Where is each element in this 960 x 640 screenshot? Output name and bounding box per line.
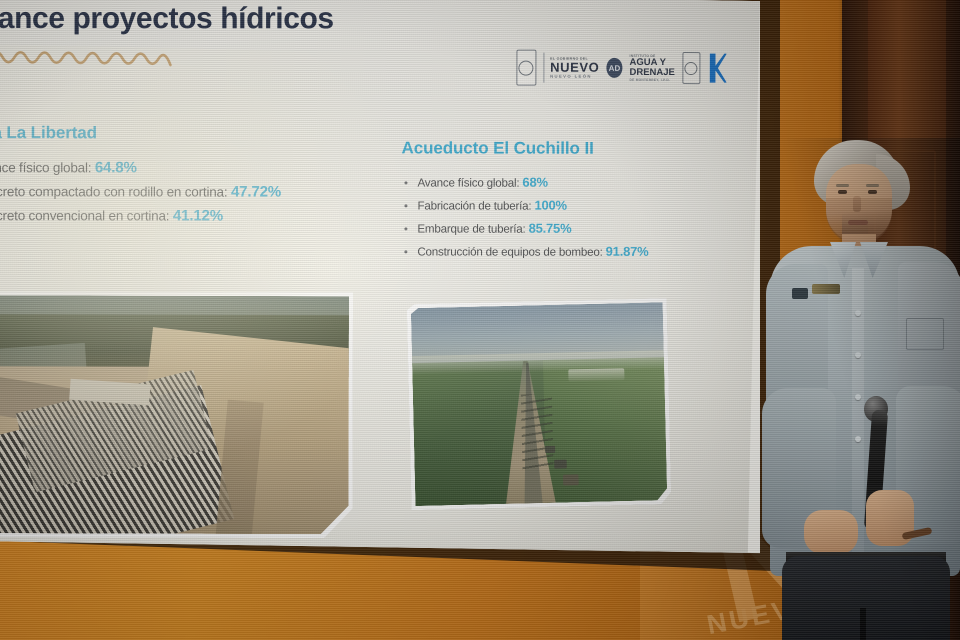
presentation-slide: Avance proyectos hídricos EL GOBIERNO DE… — [0, 0, 760, 586]
bullet-value: 91.87% — [606, 244, 649, 259]
presenter-shirt-button — [855, 436, 861, 442]
presenter-shirt-pocket — [906, 318, 944, 350]
list-item: Concreto convencional en cortina: 41.12% — [0, 207, 316, 225]
presenter-shirt-patch-gold — [812, 284, 840, 294]
presenter-nose — [853, 196, 861, 212]
presenter-pants — [782, 556, 950, 640]
bullet-value: 47.72% — [231, 183, 281, 200]
presenter-hand-left — [804, 510, 858, 554]
ad-sub-label: DE MONTERREY, I.P.D. — [629, 78, 674, 82]
nuevo-leon-logo: EL GOBIERNO DEL NUEVO NUEVO LEÓN — [543, 53, 599, 83]
column-presa-la-libertad: Presa La Libertad Avance físico global: … — [0, 123, 316, 232]
presenter-eye-left — [838, 190, 847, 194]
presenter-shirt-button — [855, 394, 861, 400]
nl-main-label: NUEVO — [550, 61, 599, 74]
presenter-shirt-button — [855, 352, 861, 358]
presenter-eye-right — [868, 190, 877, 194]
list-item: Avance físico global: 64.8% — [0, 159, 316, 177]
dam-color-grade — [0, 295, 349, 534]
photo-content-aqueduct — [411, 302, 668, 506]
bullet-text: Concreto compactado con rodillo en corti… — [0, 184, 231, 199]
projection-screen: Avance proyectos hídricos EL GOBIERNO DE… — [0, 0, 760, 586]
list-item: Avance físico global: 68% — [401, 174, 731, 190]
list-item: Concreto compactado con rodillo en corti… — [0, 183, 316, 201]
bullet-list-presa: Avance físico global: 64.8% Concreto com… — [0, 159, 316, 225]
ad-main-label-2: DRENAJE — [629, 68, 674, 78]
list-item: Construcción de equipos de bombeo: 91.87… — [401, 243, 731, 259]
k-logo-icon — [707, 48, 726, 88]
photo-content-dam — [0, 295, 349, 534]
presenter-shirt-patch-dark — [792, 288, 808, 299]
agua-drenaje-mark-icon: AD — [606, 58, 622, 78]
presenter-mouth — [848, 220, 868, 225]
aqueduct-color-grade — [411, 302, 668, 506]
bullet-value: 100% — [534, 198, 566, 213]
monterrey-seal-icon — [682, 52, 700, 84]
bullet-value: 64.8% — [95, 159, 137, 176]
nl-sub-label: NUEVO LEÓN — [550, 74, 599, 79]
bullet-text: Embarque de tubería: — [417, 222, 528, 235]
presenter-eyebrow-right — [866, 184, 879, 187]
photo-of-presentation: GOBIERNO N NUEVO Avance proyectos hídric… — [0, 0, 960, 640]
section-heading-presa: Presa La Libertad — [0, 123, 316, 144]
slide-title: Avance proyectos hídricos — [0, 2, 391, 36]
presenter-eyebrow-left — [836, 184, 849, 187]
bullet-value: 85.75% — [529, 221, 572, 236]
list-item: Embarque de tubería: 85.75% — [401, 220, 731, 236]
bullet-text: Avance físico global: — [417, 176, 522, 189]
bullet-value: 68% — [522, 175, 547, 190]
bullet-text: Fabricación de tubería: — [417, 199, 534, 212]
bullet-value: 41.12% — [173, 207, 223, 224]
photo-presa-la-libertad — [0, 291, 353, 538]
bullet-text: Concreto convencional en cortina: — [0, 208, 173, 223]
gobierno-seal-icon — [516, 50, 536, 86]
agua-drenaje-logo: INSTITUTO DE AGUA Y DRENAJE DE MONTERREY… — [629, 53, 674, 83]
column-acueducto-el-cuchillo: Acueducto El Cuchillo II Avance físico g… — [401, 138, 731, 267]
bullet-text: Avance físico global: — [0, 160, 95, 175]
photo-acueducto-el-cuchillo — [407, 298, 672, 510]
presenter-shirt-button — [855, 310, 861, 316]
presenter — [756, 138, 960, 640]
presenter-leg-separation — [860, 608, 866, 640]
bullet-list-acueducto: Avance físico global: 68% Fabricación de… — [401, 174, 731, 259]
wavy-underline-icon — [0, 45, 175, 75]
section-heading-acueducto: Acueducto El Cuchillo II — [402, 138, 732, 159]
list-item: Fabricación de tubería: 100% — [401, 197, 731, 213]
bullet-text: Construcción de equipos de bombeo: — [417, 245, 605, 258]
logo-strip: EL GOBIERNO DEL NUEVO NUEVO LEÓN AD INST… — [516, 42, 726, 95]
